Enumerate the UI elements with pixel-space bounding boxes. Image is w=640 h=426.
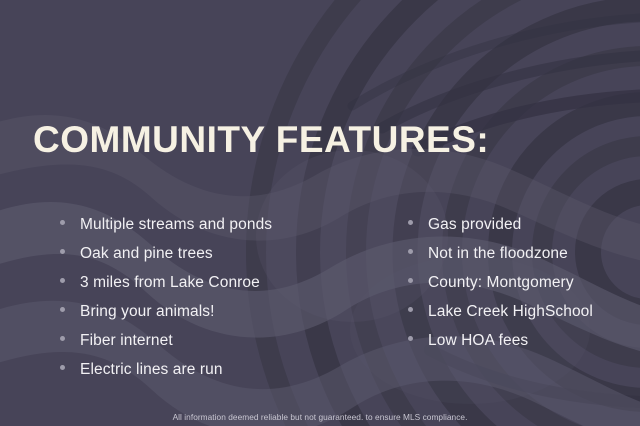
feature-label: Bring your animals! (80, 297, 215, 326)
feature-label: Gas provided (428, 210, 521, 239)
feature-list-right: Gas provided Not in the floodzone County… (408, 210, 593, 355)
bullet-icon (60, 278, 65, 283)
list-item: Gas provided (408, 210, 593, 239)
list-item: Electric lines are run (60, 355, 272, 384)
feature-label: Lake Creek HighSchool (428, 297, 593, 326)
feature-label: Oak and pine trees (80, 239, 213, 268)
bullet-icon (60, 249, 65, 254)
feature-label: Electric lines are run (80, 355, 223, 384)
feature-label: Fiber internet (80, 326, 173, 355)
bullet-icon (60, 336, 65, 341)
list-item: County: Montgomery (408, 268, 593, 297)
feature-label: Not in the floodzone (428, 239, 568, 268)
list-item: Multiple streams and ponds (60, 210, 272, 239)
feature-label: County: Montgomery (428, 268, 574, 297)
disclaimer-text: All information deemed reliable but not … (0, 412, 640, 422)
bullet-icon (60, 307, 65, 312)
feature-label: 3 miles from Lake Conroe (80, 268, 260, 297)
list-item: Not in the floodzone (408, 239, 593, 268)
list-item: 3 miles from Lake Conroe (60, 268, 272, 297)
bullet-icon (408, 220, 413, 225)
list-item: Bring your animals! (60, 297, 272, 326)
feature-list-left: Multiple streams and ponds Oak and pine … (60, 210, 272, 384)
bullet-icon (60, 365, 65, 370)
bullet-icon (60, 220, 65, 225)
feature-label: Multiple streams and ponds (80, 210, 272, 239)
list-item: Low HOA fees (408, 326, 593, 355)
bullet-icon (408, 278, 413, 283)
page-title: COMMUNITY FEATURES: (33, 121, 489, 158)
slide-content: COMMUNITY FEATURES: Multiple streams and… (0, 0, 640, 426)
list-item: Lake Creek HighSchool (408, 297, 593, 326)
bullet-icon (408, 307, 413, 312)
list-item: Oak and pine trees (60, 239, 272, 268)
bullet-icon (408, 249, 413, 254)
community-features-slide: COMMUNITY FEATURES: Multiple streams and… (0, 0, 640, 426)
bullet-icon (408, 336, 413, 341)
feature-label: Low HOA fees (428, 326, 528, 355)
list-item: Fiber internet (60, 326, 272, 355)
